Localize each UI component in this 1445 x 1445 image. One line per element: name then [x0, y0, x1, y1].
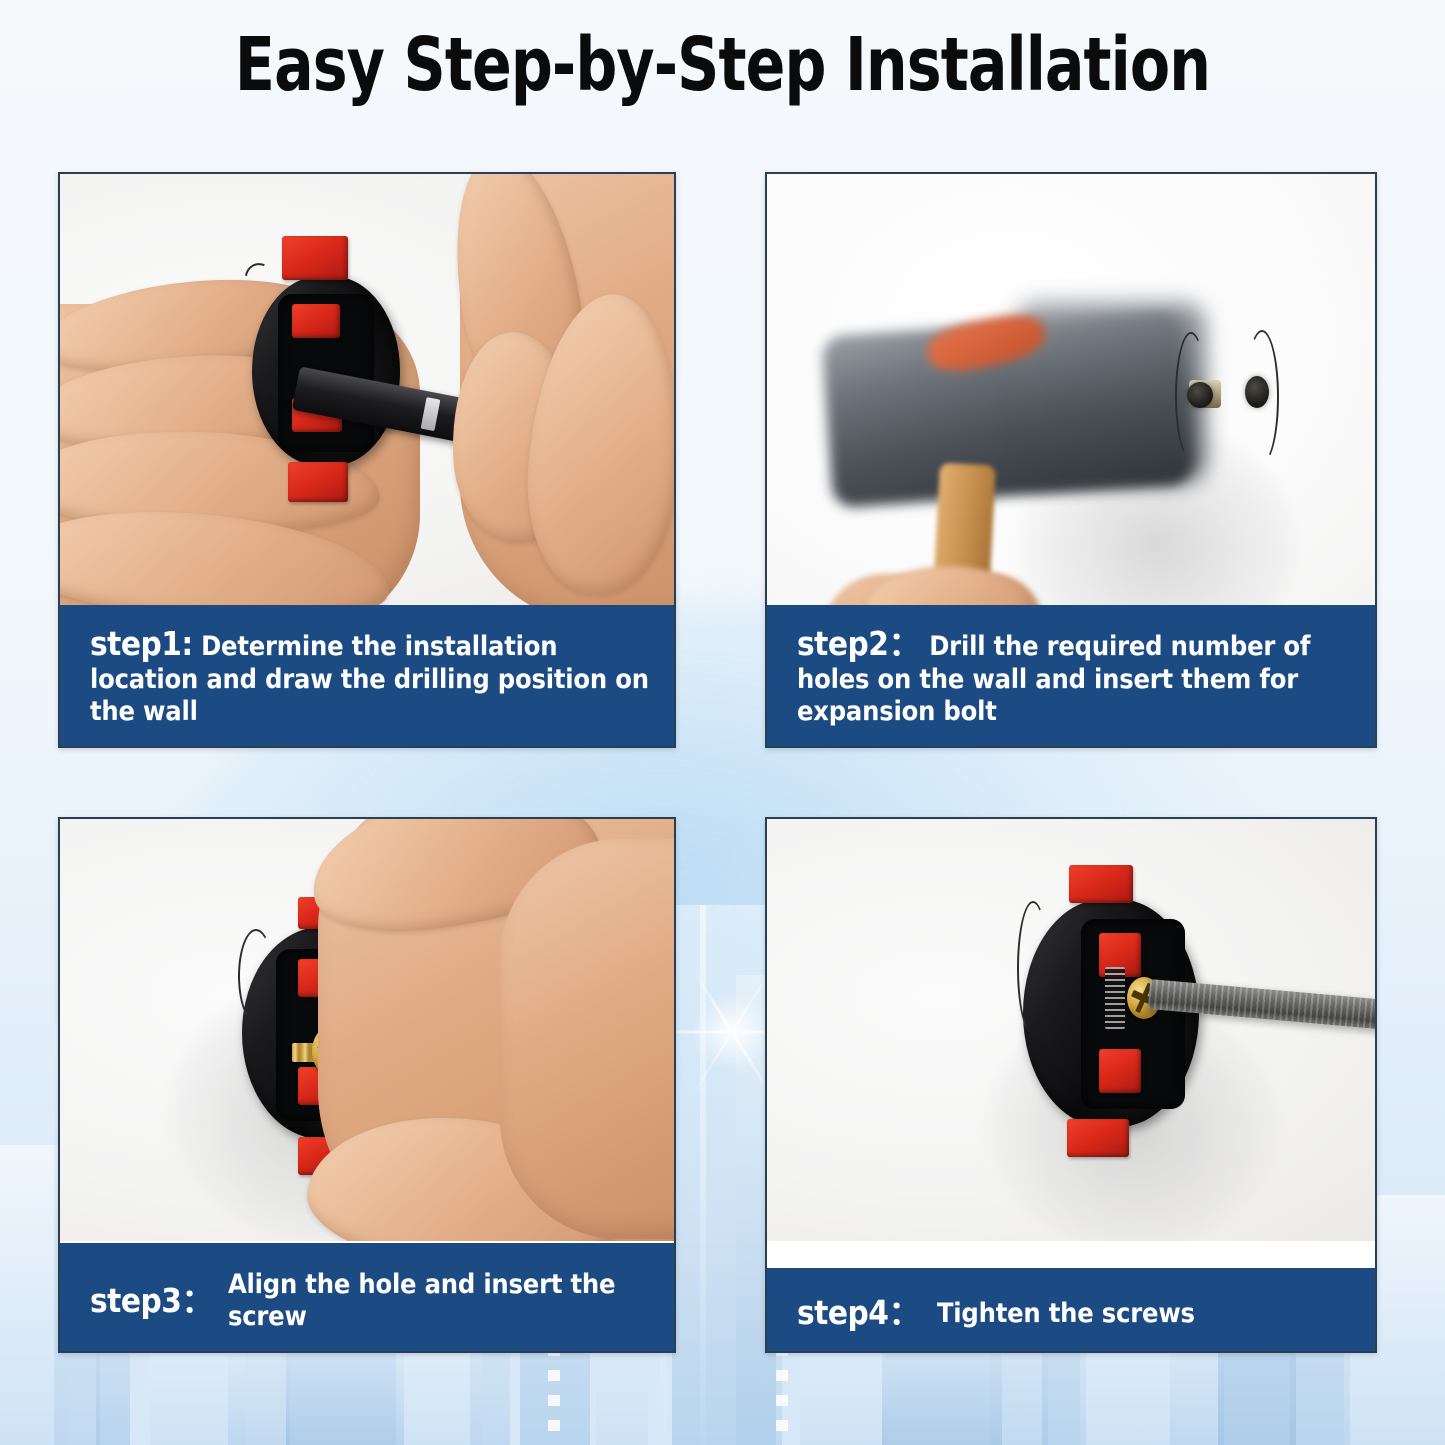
step-2-caption: step2： Drill the required number of hole…	[767, 605, 1375, 746]
bracket-vent-lines	[1105, 967, 1125, 1029]
step-3-text: Align the hole and insert the screw	[228, 1269, 650, 1333]
step-3-label: step3：	[90, 1282, 214, 1321]
step-card-2: step2： Drill the required number of hole…	[765, 172, 1377, 748]
pen-mark	[1017, 901, 1049, 1035]
step-card-1: step1: Determine the installation locati…	[58, 172, 676, 748]
step-4-photo	[767, 819, 1375, 1241]
red-tab	[292, 304, 340, 338]
step-4-label: step4：	[797, 1294, 921, 1333]
step-card-3: step3： Align the hole and insert the scr…	[58, 817, 676, 1353]
red-tab	[1099, 1049, 1141, 1093]
step-3-caption: step3： Align the hole and insert the scr…	[60, 1243, 674, 1351]
page-title: Easy Step-by-Step Installation	[87, 22, 1359, 108]
palm	[500, 839, 674, 1239]
red-tab-bottom	[1067, 1119, 1129, 1157]
step-3-photo	[60, 819, 674, 1241]
red-tab-top	[1069, 865, 1133, 903]
step-card-4: step4： Tighten the screws	[765, 817, 1377, 1353]
pen-mark-left	[1175, 332, 1207, 460]
step-2-label: step2：	[797, 624, 921, 663]
step-4-caption: step4： Tighten the screws	[767, 1268, 1375, 1351]
pen-mark	[238, 929, 274, 1023]
red-tab-top	[282, 236, 348, 280]
step-1-photo	[60, 174, 674, 622]
pen-mark-right	[1245, 330, 1279, 464]
step-2-photo	[767, 174, 1375, 626]
installation-infographic: Easy Step-by-Step Installation	[0, 0, 1445, 1445]
step-1-caption: step1: Determine the installation locati…	[60, 605, 674, 746]
step-1-label: step1:	[90, 624, 193, 663]
step-4-text: Tighten the screws	[937, 1298, 1195, 1330]
red-tab-bottom	[288, 462, 348, 502]
